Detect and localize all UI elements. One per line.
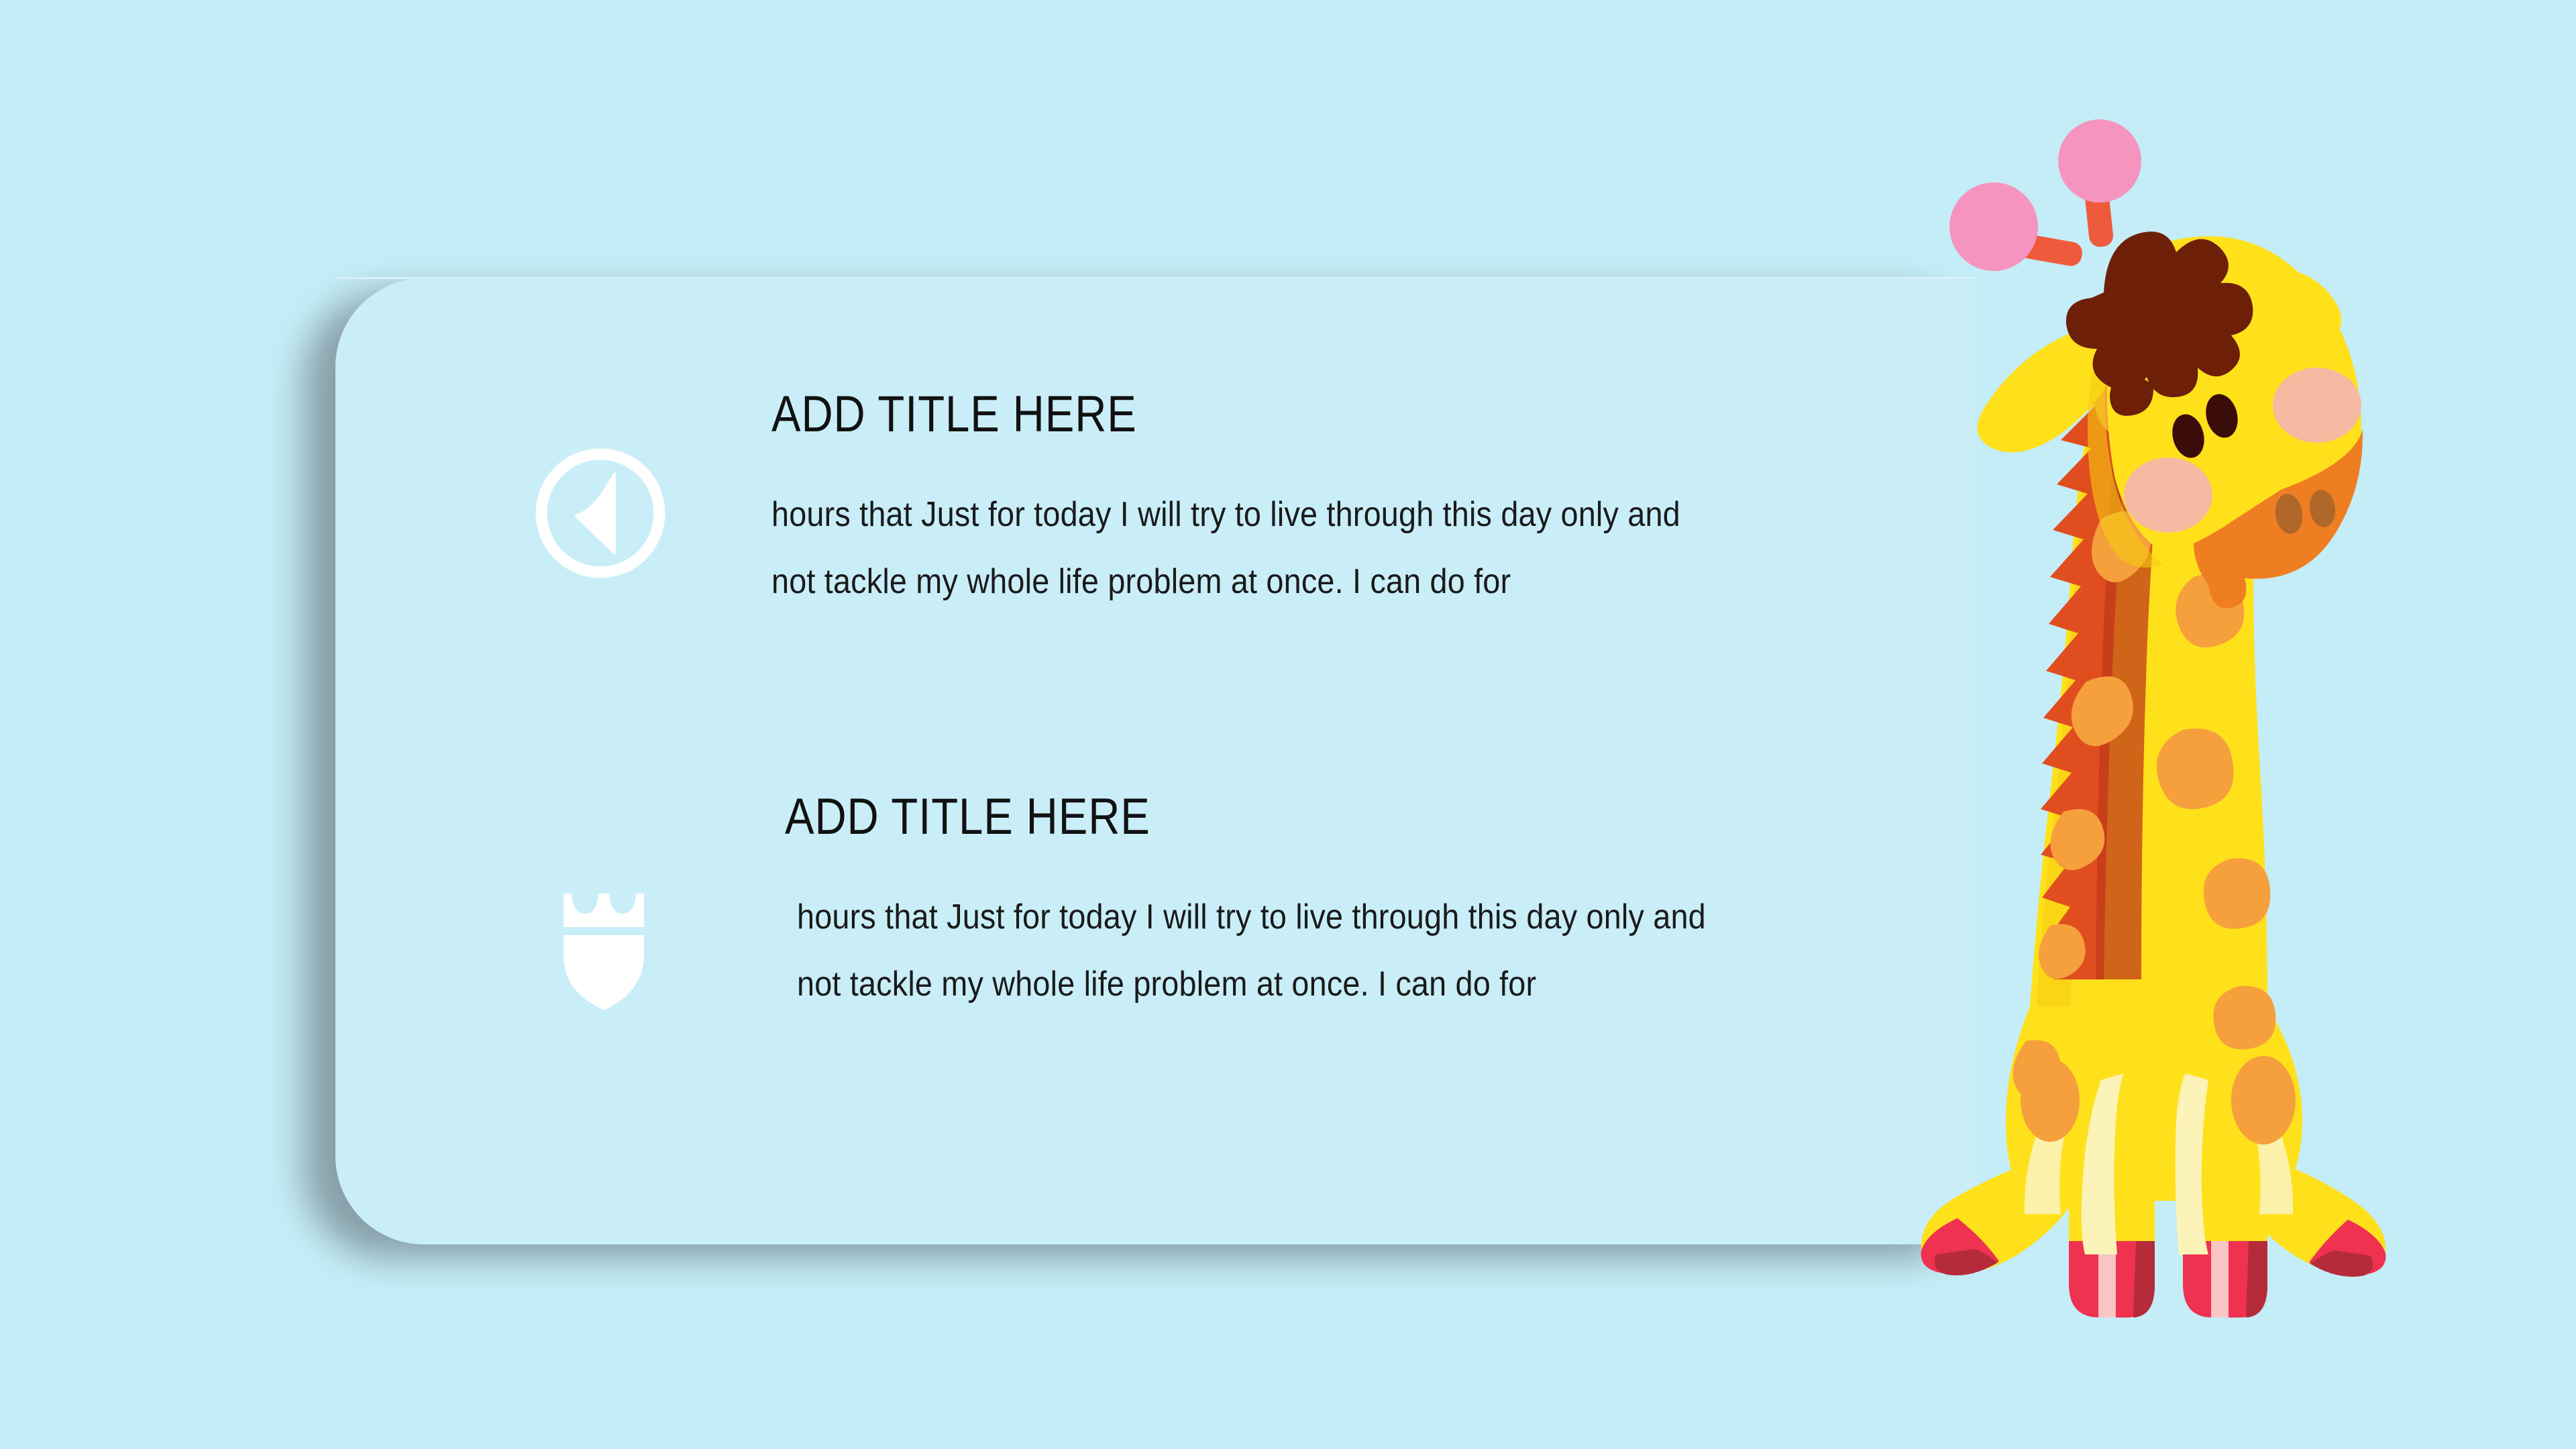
card-top-edge bbox=[335, 277, 1976, 279]
text-group-2: ADD TITLE HERE hours that Just for today… bbox=[785, 792, 1807, 1018]
block-1-body-line-2: not tackle my whole life problem at once… bbox=[771, 549, 1680, 616]
slide-canvas: ADD TITLE HERE hours that Just for today… bbox=[0, 0, 2576, 1449]
giraffe-illustration bbox=[1905, 114, 2455, 1328]
giraffe-ossicones bbox=[1949, 119, 2141, 271]
giraffe-legs bbox=[1921, 1073, 2386, 1318]
giraffe-head bbox=[1977, 231, 2363, 608]
block-1-title: ADD TITLE HERE bbox=[771, 389, 1640, 440]
crown-shield-icon[interactable] bbox=[550, 885, 657, 1013]
block-2-body-line-1: hours that Just for today I will try to … bbox=[797, 884, 1706, 951]
block-2-body-line-2: not tackle my whole life problem at once… bbox=[797, 951, 1706, 1018]
circle-play-left-icon[interactable] bbox=[530, 443, 671, 584]
block-2-title: ADD TITLE HERE bbox=[785, 792, 1664, 843]
text-group-1: ADD TITLE HERE hours that Just for today… bbox=[771, 389, 1781, 616]
block-1-body-line-1: hours that Just for today I will try to … bbox=[771, 482, 1680, 549]
